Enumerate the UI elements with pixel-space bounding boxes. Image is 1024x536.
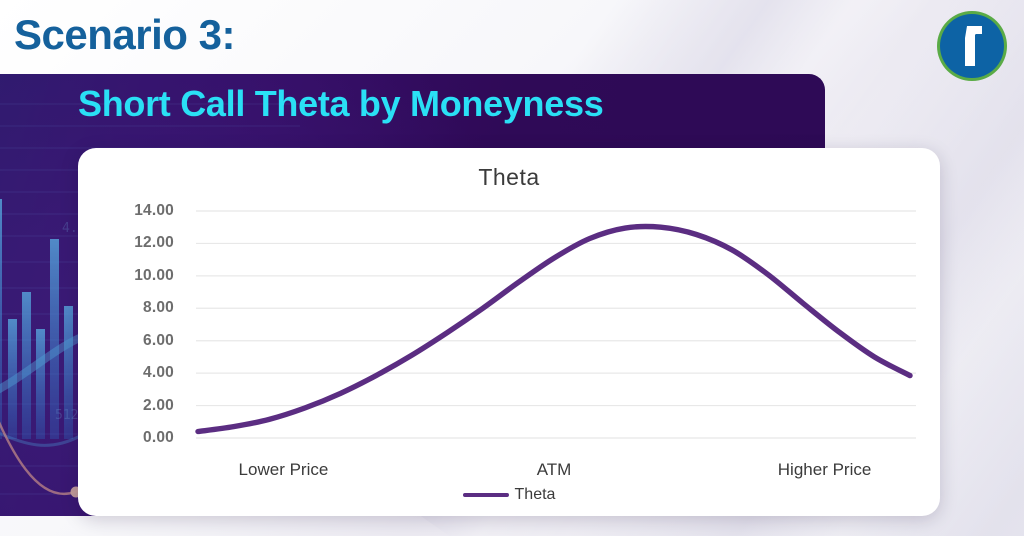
page-title: Scenario 3: xyxy=(14,14,235,56)
chart-x-tick-label: Lower Price xyxy=(239,460,329,480)
legend-swatch-theta xyxy=(463,493,509,497)
chart-y-tick-label: 10.00 xyxy=(102,267,174,285)
chart-y-tick-label: 12.00 xyxy=(102,234,174,252)
chart-y-tick-label: 8.00 xyxy=(102,299,174,317)
chart-y-tick-label: 6.00 xyxy=(102,332,174,350)
slide-canvas: 4.2658 1.0592 512658 2.3318 Scenario 3: … xyxy=(0,0,1024,536)
page-subtitle: Short Call Theta by Moneyness xyxy=(78,84,603,124)
chart-legend: Theta xyxy=(78,486,940,504)
chart-y-tick-label: 14.00 xyxy=(102,202,174,220)
chart-card: Theta 0.002.004.006.008.0010.0012.0014.0… xyxy=(78,148,940,516)
legend-label-theta: Theta xyxy=(515,486,556,504)
chart-gridlines xyxy=(196,211,916,438)
chart-y-axis: 0.002.004.006.008.0010.0012.0014.00 xyxy=(102,148,174,516)
chart-x-tick-label: Higher Price xyxy=(778,460,872,480)
chart-y-tick-label: 2.00 xyxy=(102,397,174,415)
chart-y-tick-label: 4.00 xyxy=(102,364,174,382)
chart-x-tick-label: ATM xyxy=(537,460,572,480)
chart-y-tick-label: 0.00 xyxy=(102,429,174,447)
chart-line-theta xyxy=(198,226,910,431)
brand-logo-icon xyxy=(934,8,1010,84)
